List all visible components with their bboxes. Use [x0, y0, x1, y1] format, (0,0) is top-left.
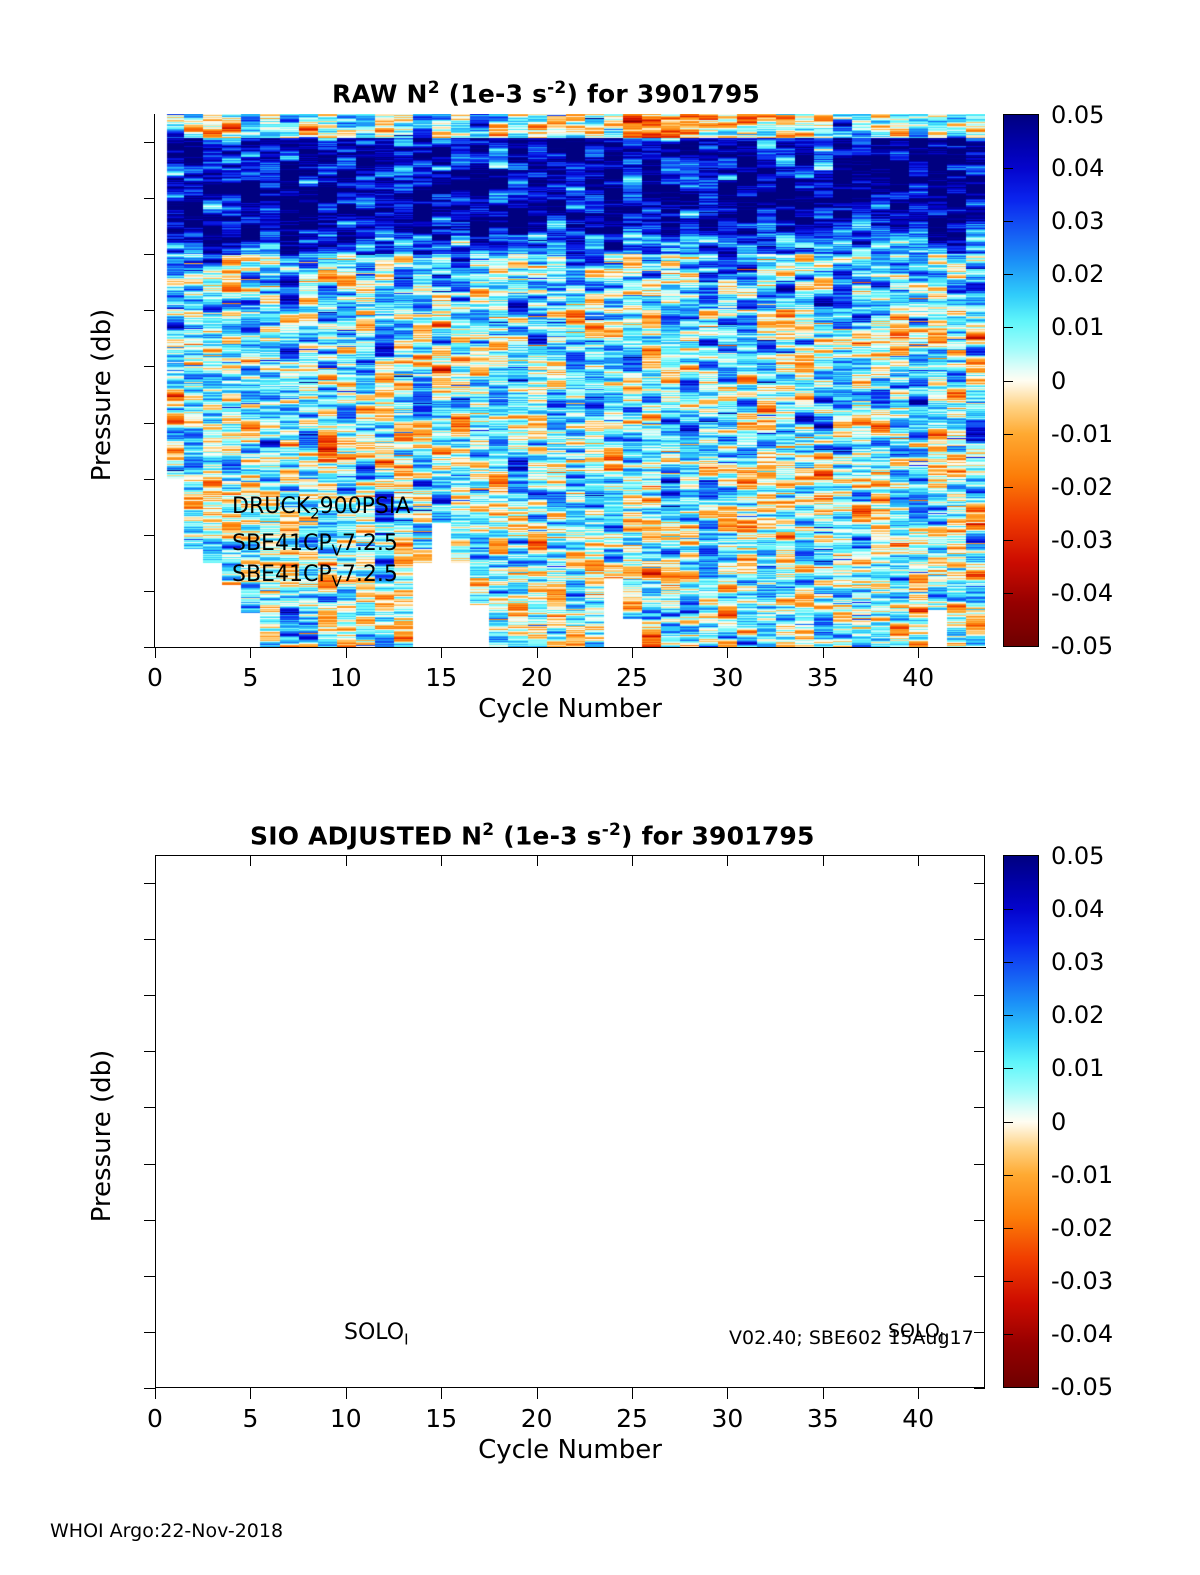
colorbar-tick [1004, 1228, 1013, 1229]
colorbar-tick [1004, 168, 1013, 169]
panel-adjusted-title: SIO ADJUSTED N2 (1e-3 s-2) for 3901795 [250, 820, 815, 850]
colorbar-tick [1004, 1281, 1013, 1282]
colorbar-tick [1004, 434, 1013, 435]
colorbar-tick [1004, 487, 1013, 488]
colorbar-tick-label: -0.02 [1051, 473, 1113, 501]
annotation-float-type-2: SOLOI [888, 1320, 944, 1346]
colorbar-tick [1004, 593, 1013, 594]
y-tick-mark-right [974, 1220, 985, 1221]
y-tick-mark [144, 254, 155, 255]
colorbar-tick-label: -0.04 [1051, 579, 1113, 607]
x-tick-mark-top [632, 855, 633, 866]
y-tick-mark [144, 883, 155, 884]
y-tick-mark-right [974, 939, 985, 940]
colorbar-tick-label: 0.04 [1051, 154, 1104, 182]
colorbar-tick-label: 0.01 [1051, 1054, 1104, 1082]
x-tick-mark [823, 647, 824, 658]
x-tick-mark-top [441, 855, 442, 866]
x-tick-label: 5 [242, 1404, 258, 1433]
y-tick-mark-right [974, 1051, 985, 1052]
colorbar-tick [1004, 381, 1013, 382]
x-tick-label: 0 [147, 663, 163, 692]
colorbar-tick-label: -0.01 [1051, 420, 1113, 448]
raw-colorbar: 0.050.040.030.020.010-0.01-0.02-0.03-0.0… [1003, 114, 1039, 647]
colorbar-tick-label: 0.04 [1051, 895, 1104, 923]
y-tick-mark [144, 1051, 155, 1052]
x-tick-mark [727, 1388, 728, 1399]
raw-y-axis-line [154, 114, 155, 648]
raw-x-axis-title: Cycle Number [478, 694, 662, 724]
y-tick-mark [144, 310, 155, 311]
annotation-pressure-sensor: DRUCK2900PSIA [232, 494, 410, 522]
y-tick-mark [144, 198, 155, 199]
x-tick-mark-top [346, 855, 347, 866]
colorbar-tick-label: 0.05 [1051, 101, 1104, 129]
colorbar-tick-label: -0.05 [1051, 1373, 1113, 1401]
x-tick-label: 10 [330, 663, 362, 692]
x-tick-mark-top [250, 855, 251, 866]
x-tick-label: 20 [521, 1404, 553, 1433]
x-tick-mark [918, 647, 919, 658]
adjusted-colorbar: 0.050.040.030.020.010-0.01-0.02-0.03-0.0… [1003, 855, 1039, 1388]
x-tick-mark [155, 1388, 156, 1399]
x-tick-label: 25 [616, 663, 648, 692]
raw-y-axis-title: Pressure (db) [87, 245, 117, 545]
x-tick-label: 20 [521, 663, 553, 692]
adjusted-y-axis-title: Pressure (db) [87, 986, 117, 1286]
x-tick-label: 35 [807, 663, 839, 692]
colorbar-tick [1004, 962, 1013, 963]
x-tick-mark [823, 1388, 824, 1399]
colorbar-tick-label: -0.02 [1051, 1214, 1113, 1242]
y-tick-mark-right [974, 1332, 985, 1333]
x-tick-label: 15 [425, 1404, 457, 1433]
colorbar-tick [1004, 909, 1013, 910]
y-tick-mark [144, 1388, 155, 1389]
y-tick-mark [144, 1107, 155, 1108]
colorbar-tick [1004, 1015, 1013, 1016]
raw-x-axis-line [154, 647, 986, 648]
y-tick-mark [144, 479, 155, 480]
adjusted-x-axis-title: Cycle Number [478, 1435, 662, 1465]
y-tick-mark-right [974, 995, 985, 996]
x-tick-label: 35 [807, 1404, 839, 1433]
x-tick-mark [918, 1388, 919, 1399]
x-tick-label: 30 [712, 1404, 744, 1433]
x-tick-mark-top [823, 855, 824, 866]
x-tick-mark-top [537, 855, 538, 866]
colorbar-tick-label: -0.01 [1051, 1161, 1113, 1189]
colorbar-tick [1004, 1068, 1013, 1069]
colorbar-tick-label: -0.03 [1051, 1267, 1113, 1295]
x-tick-label: 30 [712, 663, 744, 692]
panel-raw-title: RAW N2 (1e-3 s-2) for 3901795 [332, 78, 760, 108]
colorbar-tick-label: 0 [1051, 367, 1066, 395]
x-tick-mark [441, 1388, 442, 1399]
colorbar-tick-label: 0.03 [1051, 207, 1104, 235]
x-tick-mark [250, 647, 251, 658]
annotation-ctd-sensor-1: SBE41CPV7.2.5 [232, 531, 398, 559]
y-tick-mark [144, 647, 155, 648]
x-tick-mark [441, 647, 442, 658]
adjusted-plot-area [155, 855, 985, 1388]
y-tick-mark [144, 423, 155, 424]
x-tick-mark [537, 647, 538, 658]
x-tick-mark [250, 1388, 251, 1399]
colorbar-tick-label: -0.05 [1051, 632, 1113, 660]
colorbar-tick [1004, 221, 1013, 222]
x-tick-mark [346, 647, 347, 658]
y-tick-mark [144, 995, 155, 996]
x-tick-mark-top [727, 855, 728, 866]
x-tick-mark-top [155, 855, 156, 866]
colorbar-tick-label: 0.02 [1051, 1001, 1104, 1029]
colorbar-tick-label: 0.01 [1051, 313, 1104, 341]
x-tick-label: 40 [902, 663, 934, 692]
x-tick-label: 25 [616, 1404, 648, 1433]
adjusted-heatmap-canvas [156, 856, 984, 1387]
x-tick-mark [632, 647, 633, 658]
y-tick-mark [144, 142, 155, 143]
y-tick-mark-right [974, 1164, 985, 1165]
x-tick-mark [537, 1388, 538, 1399]
y-tick-mark [144, 1332, 155, 1333]
y-tick-mark [144, 366, 155, 367]
colorbar-tick-label: 0 [1051, 1108, 1066, 1136]
y-tick-mark-right [974, 1107, 985, 1108]
colorbar-tick [1004, 540, 1013, 541]
y-tick-mark [144, 1276, 155, 1277]
y-tick-mark-right [974, 1276, 985, 1277]
x-tick-label: 10 [330, 1404, 362, 1433]
colorbar-tick [1004, 274, 1013, 275]
colorbar-tick-label: -0.03 [1051, 526, 1113, 554]
figure-footer: WHOI Argo:22-Nov-2018 [50, 1520, 283, 1542]
x-tick-mark [155, 647, 156, 658]
x-tick-mark [727, 647, 728, 658]
colorbar-tick [1004, 327, 1013, 328]
colorbar-tick-label: 0.03 [1051, 948, 1104, 976]
y-tick-mark [144, 1164, 155, 1165]
x-tick-mark [632, 1388, 633, 1399]
y-tick-mark [144, 1220, 155, 1221]
colorbar-tick [1004, 1334, 1013, 1335]
colorbar-tick [1004, 1122, 1013, 1123]
annotation-float-type: SOLOI [344, 1320, 409, 1348]
x-tick-label: 40 [902, 1404, 934, 1433]
x-tick-mark [346, 1388, 347, 1399]
colorbar-tick-label: 0.02 [1051, 260, 1104, 288]
y-tick-mark [144, 535, 155, 536]
y-tick-mark-right [974, 883, 985, 884]
x-tick-label: 0 [147, 1404, 163, 1433]
colorbar-tick [1004, 1175, 1013, 1176]
colorbar-tick-label: -0.04 [1051, 1320, 1113, 1348]
x-tick-mark-top [918, 855, 919, 866]
y-tick-mark [144, 591, 155, 592]
x-tick-label: 15 [425, 663, 457, 692]
y-tick-mark [144, 939, 155, 940]
colorbar-tick-label: 0.05 [1051, 842, 1104, 870]
annotation-ctd-sensor-2: SBE41CPV7.2.5 [232, 562, 398, 590]
y-tick-mark-right [974, 1388, 985, 1389]
x-tick-label: 5 [242, 663, 258, 692]
